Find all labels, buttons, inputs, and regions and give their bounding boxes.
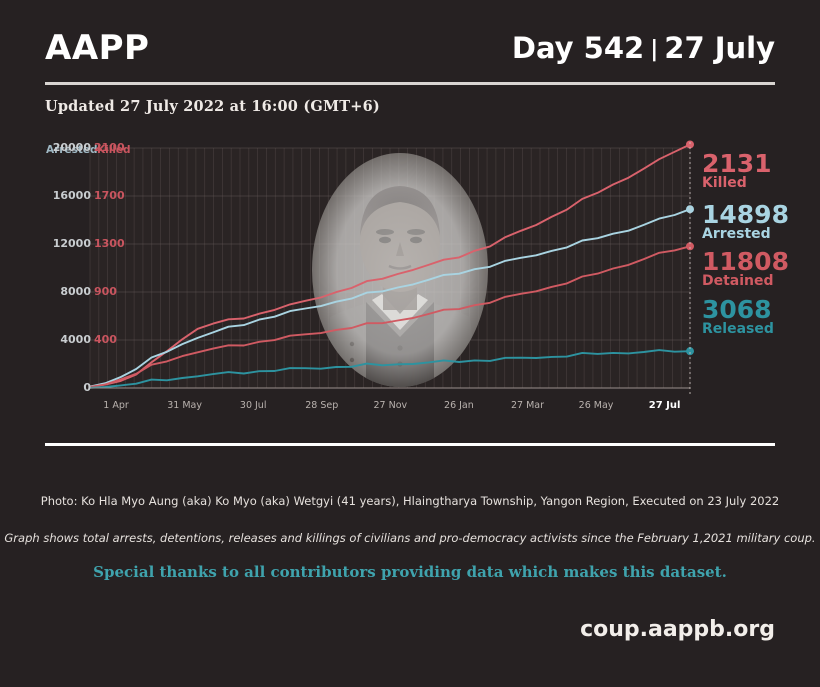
thanks-note: Special thanks to all contributors provi… xyxy=(0,563,820,581)
site-url[interactable]: coup.aappb.org xyxy=(580,617,775,642)
x-tick-27-jul: 27 Jul xyxy=(649,400,681,411)
x-tick-30-jul: 30 Jul xyxy=(240,400,267,411)
day-separator: | xyxy=(644,37,664,62)
y-tick-right-1300: 1300 xyxy=(94,237,128,250)
x-tick-31-may: 31 May xyxy=(167,400,202,411)
y-tick-left-8000: 8000 xyxy=(33,285,91,298)
footer-divider xyxy=(45,443,775,446)
y-tick-right-1700: 1700 xyxy=(94,189,128,202)
x-tick-26-jan: 26 Jan xyxy=(444,400,474,411)
infographic-page: AAPP Day 542|27 July Updated 27 July 202… xyxy=(0,0,820,687)
graph-note: Graph shows total arrests, detentions, r… xyxy=(0,531,820,545)
day-label: Day 542 xyxy=(512,31,644,65)
callout-killed: 2131 Killed xyxy=(702,152,772,190)
callout-released: 3068 Released xyxy=(702,298,774,336)
y-tick-left-20000: 20000 xyxy=(33,141,91,154)
x-tick-28-sep: 28 Sep xyxy=(305,400,338,411)
day-counter: Day 542|27 July xyxy=(512,31,775,65)
x-tick-1-apr: 1 Apr xyxy=(103,400,129,411)
x-tick-27-nov: 27 Nov xyxy=(374,400,408,411)
callout-arrested: 14898 Arrested xyxy=(702,203,789,241)
y-tick-left-0: 0 xyxy=(33,381,91,394)
y-tick-left-4000: 4000 xyxy=(33,333,91,346)
updated-timestamp: Updated 27 July 2022 at 16:00 (GMT+6) xyxy=(45,98,380,115)
x-tick-27-mar: 27 Mar xyxy=(511,400,544,411)
callout-released-value: 3068 xyxy=(702,298,774,322)
y-tick-right-2100: 2100 xyxy=(94,141,128,154)
y-tick-right-400: 400 xyxy=(94,333,128,346)
line-chart xyxy=(0,132,820,422)
date-label: 27 July xyxy=(664,31,775,65)
brand-title: AAPP xyxy=(45,28,149,68)
photo-credit: Photo: Ko Hla Myo Aung (aka) Ko Myo (aka… xyxy=(0,494,820,508)
header: AAPP Day 542|27 July xyxy=(45,28,775,74)
callout-detained-value: 11808 xyxy=(702,250,789,274)
y-tick-left-12000: 12000 xyxy=(33,237,91,250)
x-tick-26-may: 26 May xyxy=(579,400,614,411)
y-tick-left-16000: 16000 xyxy=(33,189,91,202)
y-tick-right-900: 900 xyxy=(94,285,128,298)
callout-detained: 11808 Detained xyxy=(702,250,789,288)
callout-killed-value: 2131 xyxy=(702,152,772,176)
callout-released-label: Released xyxy=(702,322,774,337)
header-divider xyxy=(45,82,775,85)
chart-container xyxy=(0,132,820,422)
callout-arrested-value: 14898 xyxy=(702,203,789,227)
